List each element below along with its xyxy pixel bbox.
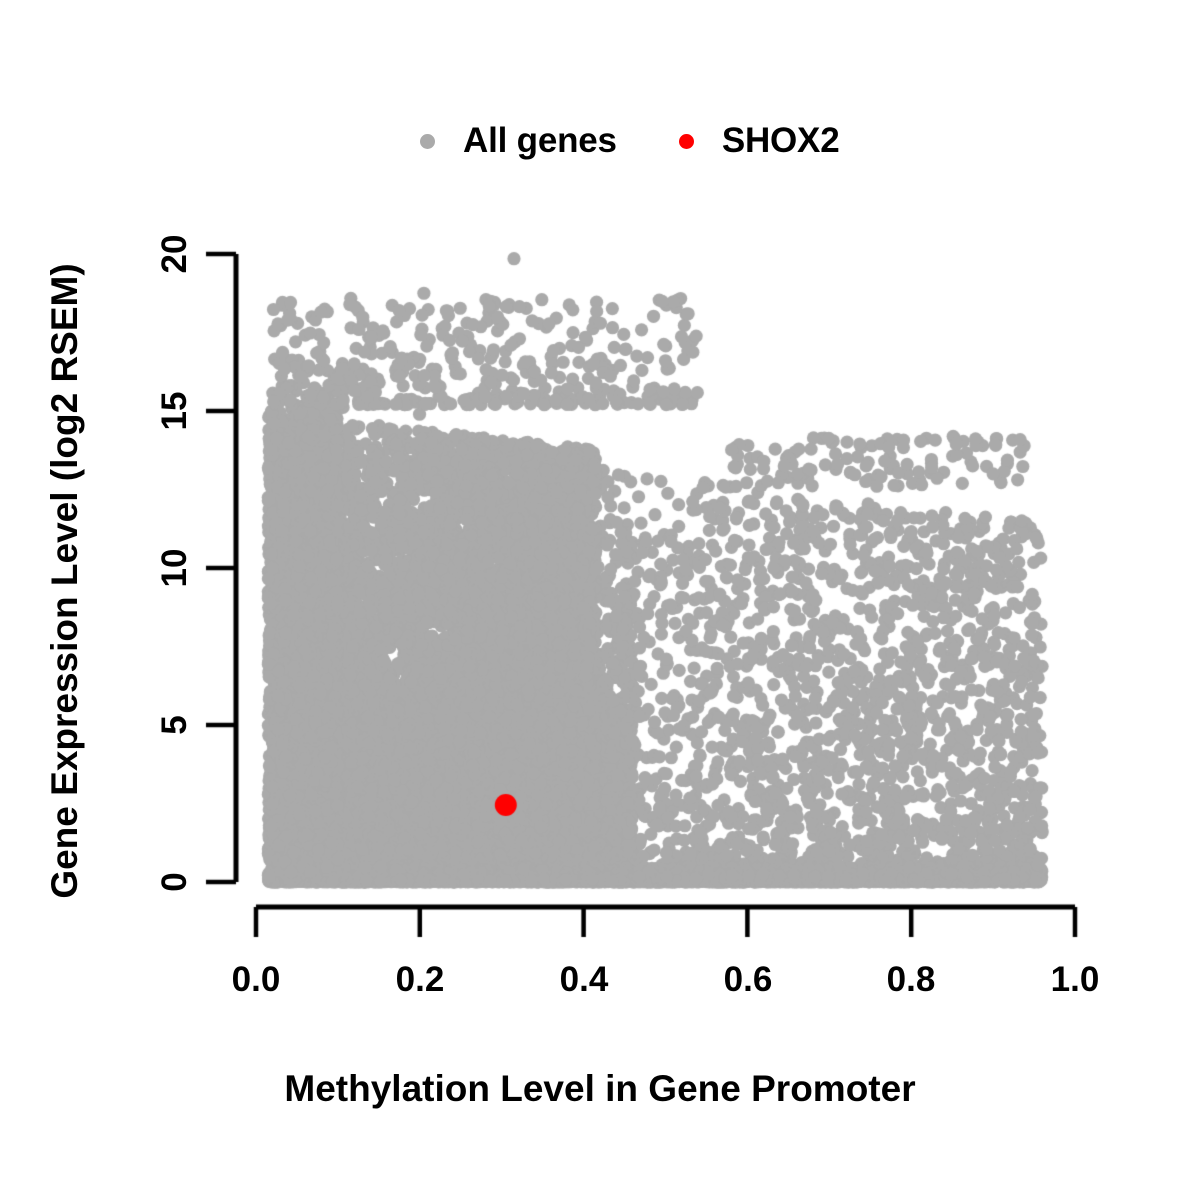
y-axis-label: Gene Expression Level (log2 RSEM) xyxy=(44,263,85,898)
ytick-label-15: 15 xyxy=(155,381,195,441)
scatter-plot-canvas xyxy=(0,0,1200,1200)
x-axis-label: Methylation Level in Gene Promoter xyxy=(0,1068,1200,1110)
scatter-plot-figure: All genes SHOX2 0 5 10 15 20 0.0 0.2 0.4… xyxy=(0,0,1200,1200)
legend-item-shox2: SHOX2 xyxy=(679,121,840,161)
xtick-label-08: 0.8 xyxy=(856,960,966,1000)
gray-dot-icon xyxy=(420,134,435,149)
xtick-label-06: 0.6 xyxy=(693,960,803,1000)
ytick-label-0: 0 xyxy=(155,852,195,912)
ytick-label-5: 5 xyxy=(155,695,195,755)
red-dot-icon xyxy=(679,134,694,149)
legend-label-all-genes: All genes xyxy=(463,121,617,161)
ytick-label-10: 10 xyxy=(155,538,195,598)
xtick-label-02: 0.2 xyxy=(365,960,475,1000)
legend-label-shox2: SHOX2 xyxy=(722,121,840,161)
ytick-label-20: 20 xyxy=(155,224,195,284)
y-axis-label-wrapper: Gene Expression Level (log2 RSEM) xyxy=(44,0,86,1181)
xtick-label-04: 0.4 xyxy=(529,960,639,1000)
legend: All genes SHOX2 xyxy=(420,112,839,170)
xtick-label-00: 0.0 xyxy=(201,960,311,1000)
legend-item-all-genes: All genes xyxy=(420,121,617,161)
xtick-label-10: 1.0 xyxy=(1020,960,1130,1000)
